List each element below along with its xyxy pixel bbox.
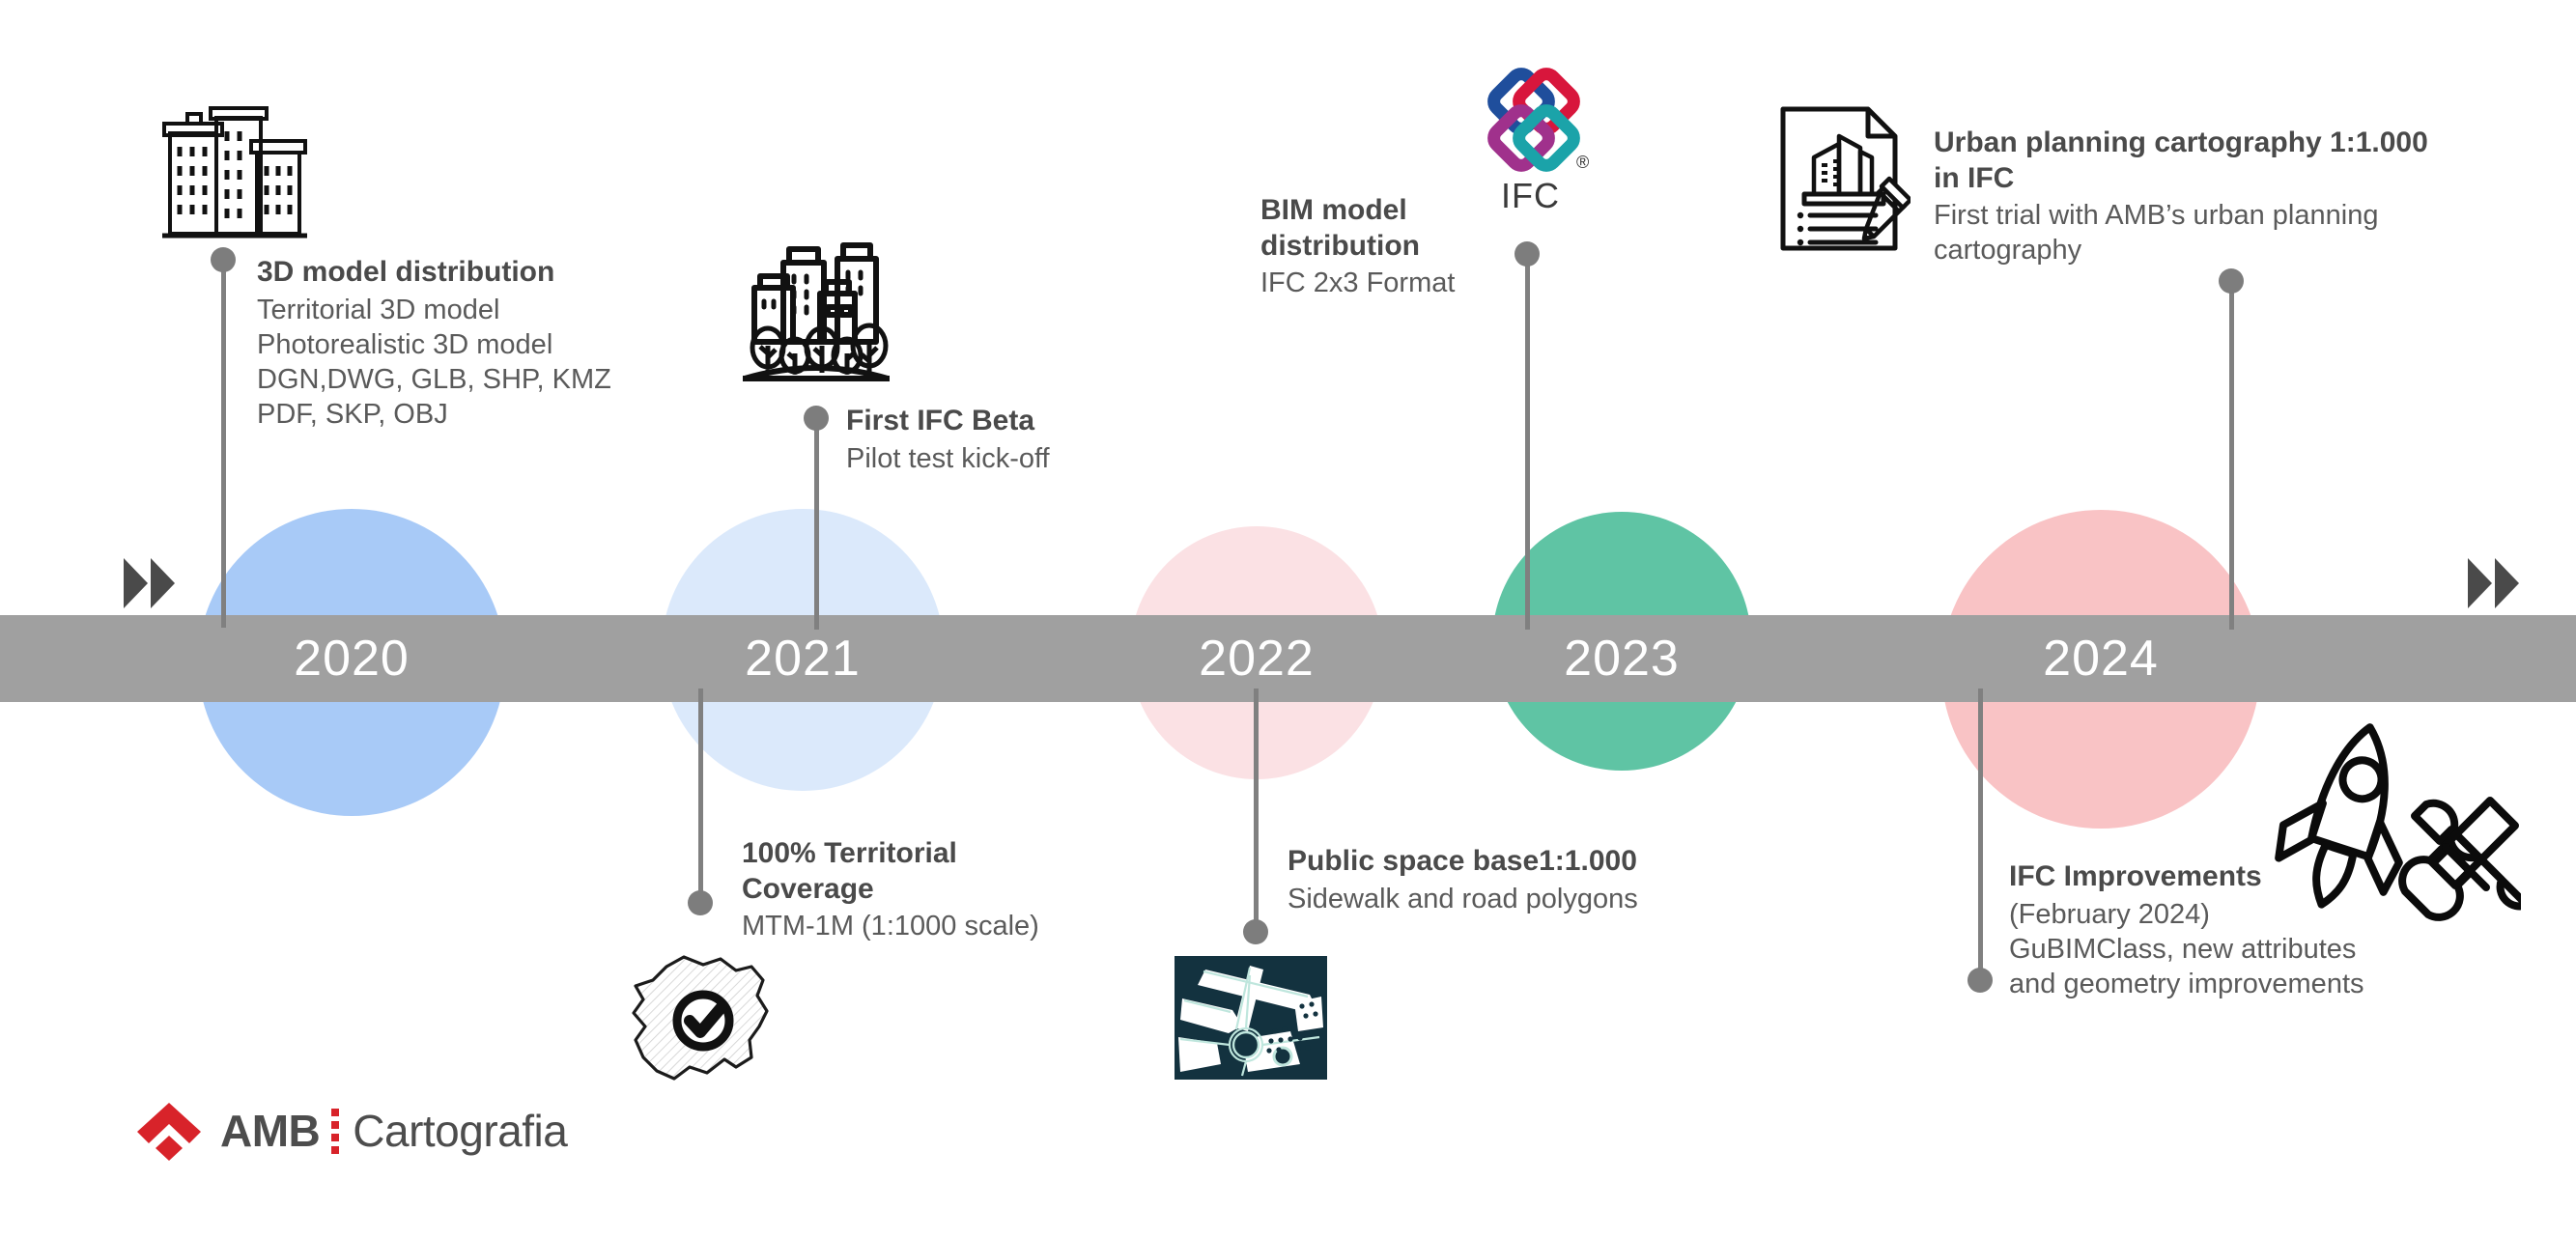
amb-dot-divider	[331, 1109, 339, 1154]
timeline-infographic: 2020 2021 2022 2023 2024	[0, 0, 2576, 1237]
milestone-2020-title: 3D model distribution	[257, 255, 701, 291]
milestone-2021-top-title: First IFC Beta	[846, 404, 1252, 439]
milestone-2022-title: Public space base1:1.000	[1288, 844, 1741, 880]
timeline-start-arrow	[124, 558, 175, 608]
connector-stem-2022	[1254, 689, 1259, 932]
year-label-2020: 2020	[255, 615, 448, 702]
connector-stem-2020	[221, 259, 226, 628]
connector-dot-2024-bottom	[1967, 968, 1993, 993]
ifc-logo-icon: ® IFC	[1476, 68, 1592, 188]
milestone-2021-bottom-title: 100% Territorial Coverage	[742, 836, 1167, 907]
milestone-2024-top: Urban planning cartography 1:1.000 in IF…	[1934, 126, 2504, 268]
milestone-2023-body: IFC 2x3 Format	[1260, 266, 1531, 300]
document-pencil-icon	[1775, 101, 1911, 261]
amb-cartografia-logo: AMB Cartografia	[133, 1099, 567, 1163]
buildings-icon	[162, 97, 307, 256]
year-label-2024: 2024	[2004, 615, 2197, 702]
rocket-tools-icon	[2250, 710, 2521, 956]
year-label-2022: 2022	[1160, 615, 1353, 702]
connector-dot-2021-top	[804, 406, 829, 431]
double-chevron-right-icon	[2468, 558, 2492, 608]
connector-dot-2024-top	[2219, 268, 2244, 294]
double-chevron-right-icon	[2495, 558, 2519, 608]
territory-check-icon	[607, 951, 780, 1096]
connector-stem-2021-top	[814, 415, 819, 630]
timeline-end-arrow	[2468, 558, 2519, 608]
milestone-2020-body: Territorial 3D model Photorealistic 3D m…	[257, 293, 701, 433]
milestone-2021-top-body: Pilot test kick-off	[846, 441, 1252, 476]
milestone-2022-body: Sidewalk and road polygons	[1288, 882, 1741, 916]
milestone-2022: Public space base1:1.000 Sidewalk and ro…	[1288, 844, 1741, 916]
double-chevron-right-icon	[151, 558, 175, 608]
ifc-registered-mark: ®	[1576, 153, 1589, 173]
year-label-2021: 2021	[706, 615, 899, 702]
double-chevron-right-icon	[124, 558, 148, 608]
milestone-2024-top-title: Urban planning cartography 1:1.000 in IF…	[1934, 126, 2504, 196]
connector-stem-2021-bottom	[698, 689, 703, 903]
connector-stem-2023	[1525, 253, 1530, 630]
street-map-icon	[1175, 956, 1327, 1084]
amb-chevron-mark-icon	[133, 1099, 205, 1163]
amb-suffix: Cartografia	[353, 1109, 567, 1153]
milestone-2023-title: BIM model distribution	[1260, 193, 1531, 264]
milestone-2021-bottom-body: MTM-1M (1:1000 scale)	[742, 909, 1167, 943]
milestone-2023: BIM model distribution IFC 2x3 Format	[1260, 193, 1531, 300]
city-with-trees-icon	[739, 232, 893, 391]
milestone-2021-bottom: 100% Territorial Coverage MTM-1M (1:1000…	[742, 836, 1167, 943]
milestone-2024-top-body: First trial with AMB’s urban planning ca…	[1934, 198, 2504, 268]
milestone-2020: 3D model distribution Territorial 3D mod…	[257, 255, 701, 433]
connector-stem-2024-top	[2229, 280, 2234, 630]
amb-wordmark: AMB	[220, 1109, 320, 1153]
year-label-2023: 2023	[1525, 615, 1718, 702]
connector-dot-2021-bottom	[688, 890, 713, 915]
milestone-2021-top: First IFC Beta Pilot test kick-off	[846, 404, 1252, 476]
connector-stem-2024-bottom	[1978, 689, 1983, 980]
connector-dot-2022	[1243, 919, 1268, 944]
